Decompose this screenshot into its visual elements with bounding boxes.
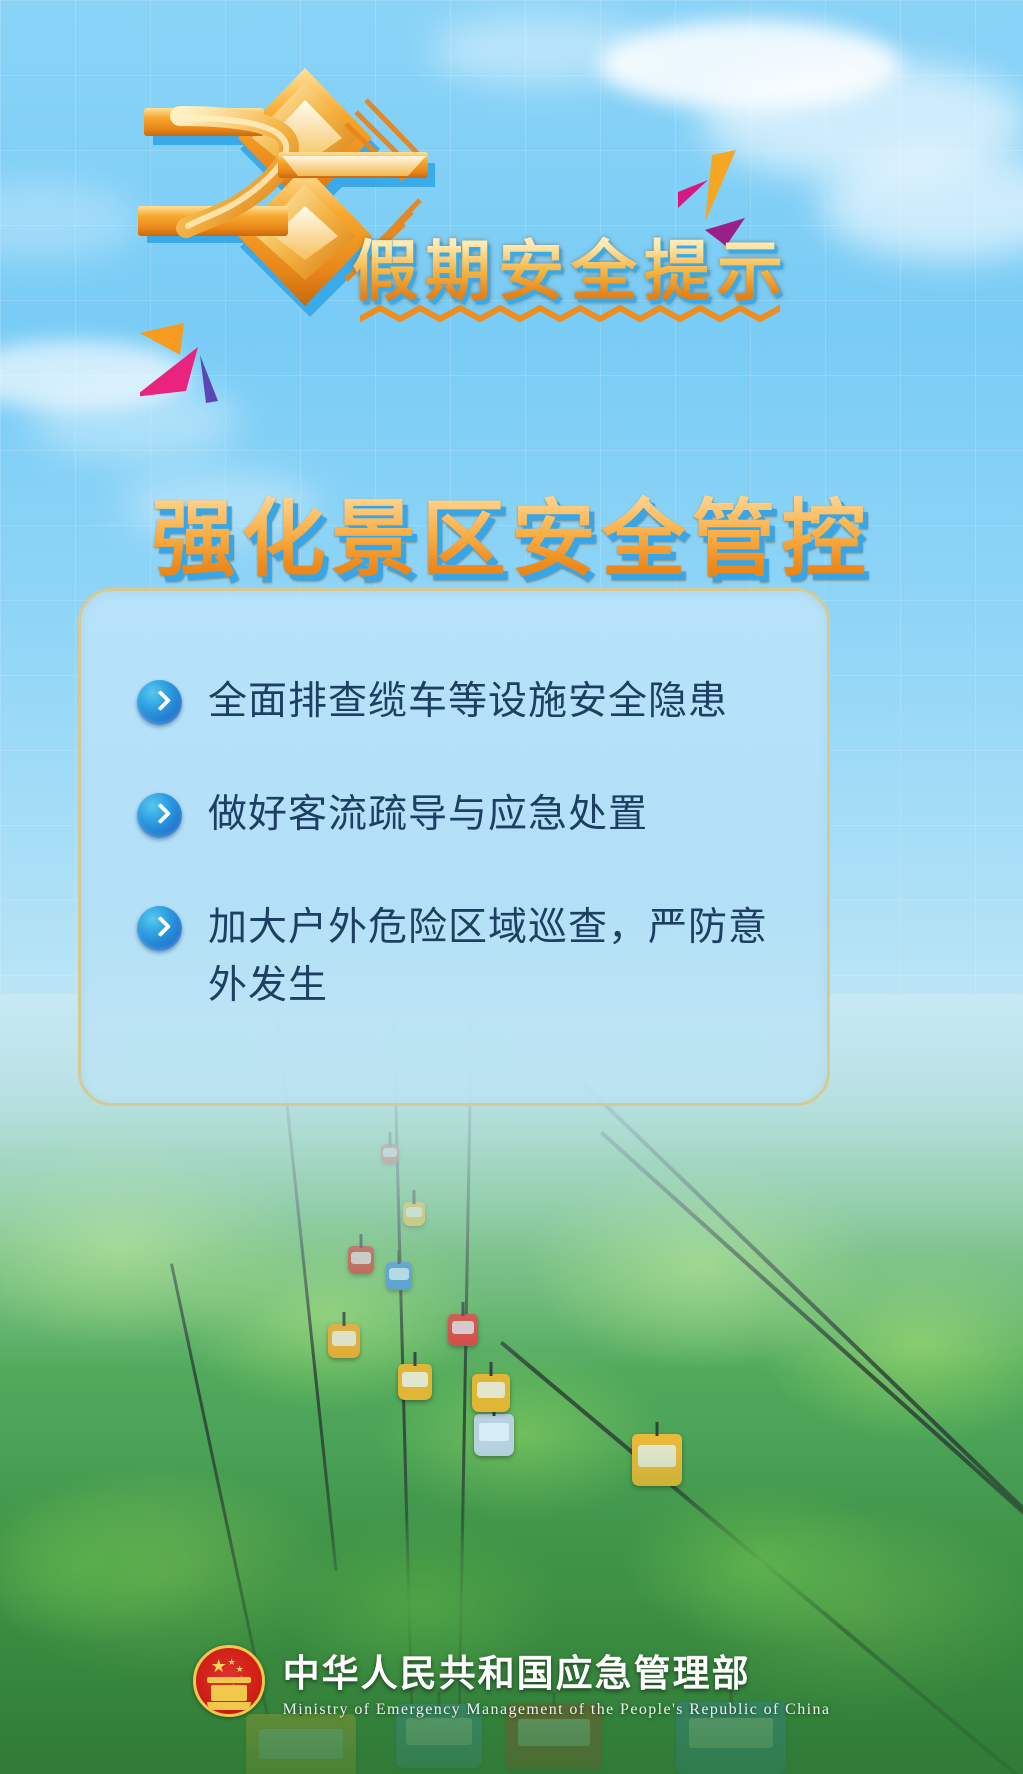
list-item-label: 全面排查缆车等设施安全隐患	[208, 673, 728, 731]
footer-branding: ★ ★ ★ ★ ★ 中华人民共和国应急管理部 Ministry of Emerg…	[0, 1626, 1023, 1736]
footer-organization-cn: 中华人民共和国应急管理部	[283, 1643, 831, 1697]
gondola-cabin	[381, 1144, 399, 1164]
emblem-star-small-1: ★	[228, 1655, 236, 1669]
gondola-cabin	[348, 1246, 374, 1274]
gondola-cabin	[398, 1364, 432, 1400]
footer-organization-en: Ministry of Emergency Management of the …	[283, 1701, 831, 1719]
content-card: 全面排查缆车等设施安全隐患 做好客流疏导与应急处置 加大户外危险区域巡查，严防意…	[78, 588, 830, 1106]
poster-root: 假期安全提示 强化景区安全管控 全面排查缆车等设施安全隐患 做好客流疏导与应急处…	[0, 0, 1023, 1774]
gondola-cabin	[386, 1262, 412, 1290]
list-item: 做好客流疏导与应急处置	[137, 786, 785, 844]
national-emblem-icon: ★ ★ ★ ★ ★	[193, 1645, 265, 1717]
gondola-cabin	[472, 1374, 510, 1412]
header-banner: 假期安全提示	[0, 30, 1023, 330]
gondola-cabin	[403, 1202, 425, 1226]
list-item: 全面排查缆车等设施安全隐患	[137, 673, 785, 731]
chevron-right-icon	[137, 906, 182, 951]
emblem-tiananmen-gate	[211, 1685, 247, 1701]
emblem-star-big: ★	[211, 1659, 227, 1673]
list-item: 加大户外危险区域巡查，严防意外发生	[137, 899, 785, 1015]
gondola-cabin	[448, 1314, 478, 1346]
chevron-right-icon	[137, 680, 182, 725]
emblem-wheat-ears	[207, 1702, 251, 1710]
list-item-label: 加大户外危险区域巡查，严防意外发生	[208, 899, 785, 1015]
footer-text-group: 中华人民共和国应急管理部 Ministry of Emergency Manag…	[283, 1643, 831, 1719]
header-subtitle: 假期安全提示	[352, 218, 790, 314]
page-title: 强化景区安全管控	[0, 472, 1023, 593]
gondola-cabin	[328, 1324, 360, 1358]
header-wave-underline	[360, 305, 780, 327]
list-item-label: 做好客流疏导与应急处置	[208, 786, 648, 844]
confetti-left-cluster	[140, 285, 340, 405]
chevron-right-icon	[137, 793, 182, 838]
